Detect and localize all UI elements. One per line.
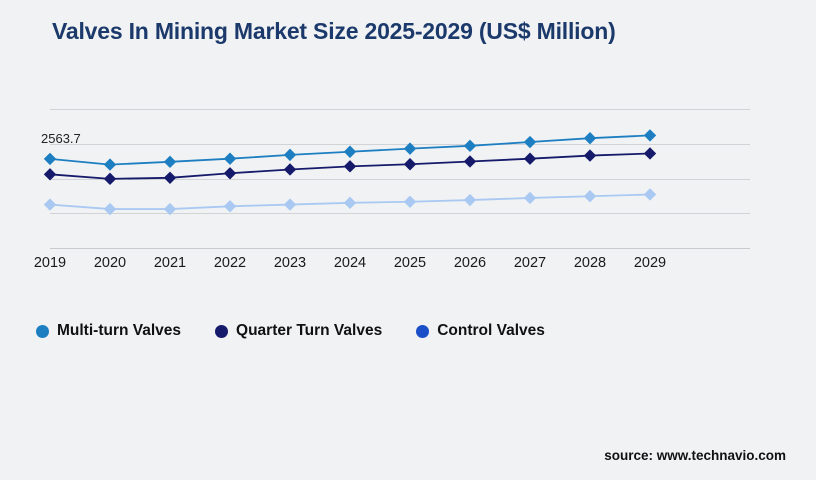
data-point-marker[interactable] xyxy=(644,188,656,200)
data-point-marker[interactable] xyxy=(644,147,656,159)
x-tick-label: 2025 xyxy=(394,255,426,271)
x-tick-label: 2020 xyxy=(94,255,126,271)
legend-item-2[interactable]: Quarter Turn Valves xyxy=(215,322,382,340)
series-3 xyxy=(44,188,656,215)
x-tick-label: 2027 xyxy=(514,255,546,271)
x-tick-label: 2019 xyxy=(34,255,66,271)
x-tick-label: 2024 xyxy=(334,255,366,271)
data-point-marker[interactable] xyxy=(284,198,296,210)
data-point-marker[interactable] xyxy=(44,153,56,165)
legend-dot-icon xyxy=(215,325,228,338)
data-point-marker[interactable] xyxy=(284,163,296,175)
x-tick-label: 2021 xyxy=(154,255,186,271)
data-point-marker[interactable] xyxy=(164,203,176,215)
data-point-marker[interactable] xyxy=(464,155,476,167)
legend-label: Quarter Turn Valves xyxy=(236,322,382,340)
data-point-marker[interactable] xyxy=(284,149,296,161)
data-point-marker[interactable] xyxy=(224,167,236,179)
data-point-marker[interactable] xyxy=(464,140,476,152)
data-point-marker[interactable] xyxy=(584,190,596,202)
legend-label: Multi-turn Valves xyxy=(57,322,181,340)
series-layer xyxy=(50,92,750,252)
data-point-marker[interactable] xyxy=(164,156,176,168)
data-point-marker[interactable] xyxy=(404,196,416,208)
legend-dot-icon xyxy=(416,325,429,338)
data-point-marker[interactable] xyxy=(44,198,56,210)
data-point-marker[interactable] xyxy=(524,192,536,204)
data-point-label: 2563.7 xyxy=(41,131,81,146)
data-point-marker[interactable] xyxy=(104,203,116,215)
data-point-marker[interactable] xyxy=(584,132,596,144)
data-point-marker[interactable] xyxy=(104,173,116,185)
legend-label: Control Valves xyxy=(437,322,545,340)
data-point-marker[interactable] xyxy=(644,129,656,141)
x-axis-labels: 2019202020212022202320242025202620272028… xyxy=(50,255,750,279)
chart-legend[interactable]: Multi-turn ValvesQuarter Turn ValvesCont… xyxy=(36,322,545,340)
data-point-marker[interactable] xyxy=(404,142,416,154)
x-tick-label: 2026 xyxy=(454,255,486,271)
data-point-marker[interactable] xyxy=(224,200,236,212)
x-tick-label: 2022 xyxy=(214,255,246,271)
data-point-marker[interactable] xyxy=(344,160,356,172)
data-point-marker[interactable] xyxy=(524,136,536,148)
chart-page: Valves In Mining Market Size 2025-2029 (… xyxy=(0,0,816,480)
legend-item-3[interactable]: Control Valves xyxy=(416,322,545,340)
source-attribution: source: www.technavio.com xyxy=(604,448,786,463)
data-point-marker[interactable] xyxy=(104,158,116,170)
x-tick-label: 2028 xyxy=(574,255,606,271)
data-point-marker[interactable] xyxy=(464,194,476,206)
x-tick-label: 2029 xyxy=(634,255,666,271)
data-point-marker[interactable] xyxy=(584,149,596,161)
legend-dot-icon xyxy=(36,325,49,338)
data-point-marker[interactable] xyxy=(224,152,236,164)
x-tick-label: 2023 xyxy=(274,255,306,271)
legend-item-1[interactable]: Multi-turn Valves xyxy=(36,322,181,340)
data-point-marker[interactable] xyxy=(344,146,356,158)
data-point-marker[interactable] xyxy=(164,172,176,184)
data-point-marker[interactable] xyxy=(404,158,416,170)
data-point-marker[interactable] xyxy=(344,197,356,209)
plot-area: 2563.7 201920202021202220232024202520262… xyxy=(0,0,816,300)
data-point-marker[interactable] xyxy=(44,168,56,180)
data-point-marker[interactable] xyxy=(524,152,536,164)
